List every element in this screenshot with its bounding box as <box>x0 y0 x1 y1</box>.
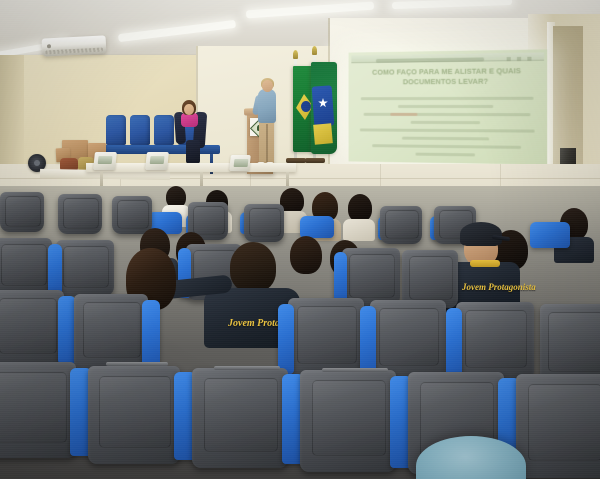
state-flag-yellow-band <box>313 123 333 144</box>
air-conditioner-icon <box>42 35 107 56</box>
auditorium-seat[interactable] <box>192 368 288 468</box>
auditorium-seat[interactable] <box>0 238 52 294</box>
auditorium-seat[interactable] <box>516 374 600 478</box>
woman-top <box>181 113 198 127</box>
baseball-cap <box>460 222 502 246</box>
auditorium-seat[interactable] <box>112 196 152 234</box>
equipment-kit <box>229 155 251 171</box>
bench-seatback <box>130 115 150 145</box>
auditorium-seat-side[interactable] <box>446 308 462 378</box>
slide-text-line <box>372 144 521 149</box>
auditorium-seat[interactable] <box>530 222 570 248</box>
state-flag <box>311 62 337 154</box>
seat-armrest <box>214 366 280 370</box>
table-leg <box>200 172 203 186</box>
state-flag-blue-field <box>312 85 335 126</box>
auditorium-seat[interactable] <box>58 194 102 234</box>
auditorium-seat[interactable] <box>540 304 600 384</box>
equipment-kit <box>145 152 169 170</box>
slide-body <box>358 97 537 163</box>
browser-chrome-bar <box>351 52 544 63</box>
table-leg <box>100 172 103 186</box>
person-top <box>343 219 375 241</box>
seated-woman <box>172 100 208 160</box>
auditorium-photo: COMO FAÇO PARA ME ALISTAR E QUAIS DOCUME… <box>0 0 600 479</box>
auditorium-seat[interactable] <box>300 370 396 472</box>
auditorium-seat[interactable] <box>56 240 114 296</box>
auditorium-seat-side[interactable] <box>334 252 347 304</box>
bench-seatback <box>154 115 174 145</box>
woman-legs <box>186 140 200 164</box>
woman-face <box>184 104 194 115</box>
seat-armrest <box>322 368 388 372</box>
auditorium-seat[interactable] <box>288 298 364 376</box>
bench-seatback <box>106 115 126 145</box>
presenter-torso <box>258 89 276 123</box>
auditorium-seat-side[interactable] <box>142 300 160 368</box>
auditorium-seat-side[interactable] <box>360 306 376 376</box>
slide-title: COMO FAÇO PARA ME ALISTAR E QUAIS DOCUME… <box>356 66 539 88</box>
flag-stand-base <box>305 158 325 163</box>
auditorium-seat[interactable] <box>456 302 534 380</box>
auditorium-seat-side[interactable] <box>48 244 62 294</box>
jacket-collar <box>470 260 500 267</box>
auditorium-seat[interactable] <box>0 192 44 232</box>
projection-screen: COMO FAÇO PARA ME ALISTAR E QUAIS DOCUME… <box>349 49 548 164</box>
slide-highlight <box>390 113 417 116</box>
table-leg <box>286 172 289 186</box>
browser-toolbar-icons <box>507 57 538 62</box>
presenter-head <box>262 80 273 92</box>
slide-text-line <box>360 128 535 132</box>
auditorium-seat[interactable] <box>370 300 446 378</box>
slide-text-line <box>415 153 475 157</box>
slide-text-line <box>411 121 480 124</box>
slide-text-line <box>398 105 493 108</box>
shirt-logo-text: Jovem Protagonista <box>462 282 536 292</box>
seat-armrest <box>106 362 168 366</box>
auditorium-seat[interactable] <box>74 294 148 370</box>
flag-finial <box>293 50 298 59</box>
auditorium-seat[interactable] <box>244 204 284 242</box>
auditorium-seat[interactable] <box>380 206 422 244</box>
presenter-legs <box>259 120 274 164</box>
ac-indicator-light <box>47 44 51 48</box>
auditorium-seat[interactable] <box>0 290 64 366</box>
front-table <box>86 163 296 172</box>
auditorium-seat[interactable] <box>300 216 334 238</box>
browser-url-bar <box>376 57 484 62</box>
auditorium-seat-side[interactable] <box>278 304 294 374</box>
equipment-kit <box>93 152 117 170</box>
person-hair <box>348 194 372 222</box>
flag-finial <box>312 46 317 55</box>
auditorium-seat[interactable] <box>0 362 76 458</box>
auditorium-seat[interactable] <box>88 366 180 464</box>
slide-text-line <box>402 137 489 141</box>
person-hair <box>290 236 322 274</box>
person-hair <box>230 242 276 292</box>
slide-text-line <box>361 97 534 100</box>
slide-text-line <box>364 113 531 116</box>
audience-area: Jovem Protagonista Jovem Protagonista <box>0 186 600 479</box>
